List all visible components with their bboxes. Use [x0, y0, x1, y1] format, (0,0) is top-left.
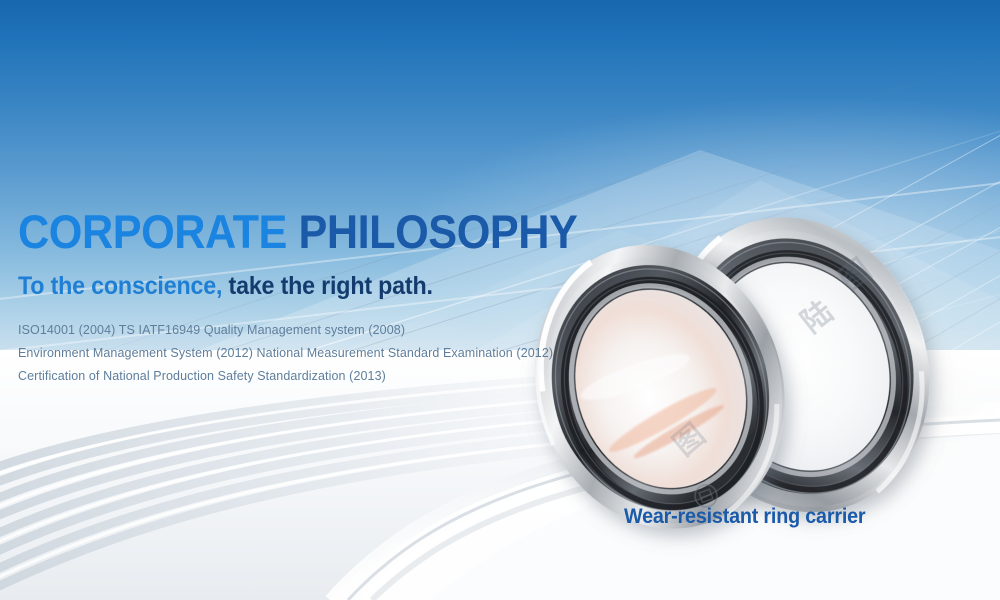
certification-line: Environment Management System (2012) Nat… — [18, 342, 638, 365]
subtitle-part-secondary: take the right path. — [229, 272, 433, 300]
certification-line: ISO14001 (2004) TS IATF16949 Quality Man… — [18, 319, 638, 342]
page-subtitle: To the conscience, take the right path. — [18, 273, 595, 301]
subtitle-part-primary: To the conscience, — [18, 272, 222, 300]
certifications-list: ISO14001 (2004) TS IATF16949 Quality Man… — [18, 319, 638, 388]
corporate-philosophy-banner: 图 陆 图 CORPORATE PHILOSOPHY To the consci… — [0, 0, 1000, 600]
product-caption: Wear-resistant ring carrier — [624, 505, 865, 529]
headline-copy-block: CORPORATE PHILOSOPHY To the conscience, … — [18, 208, 638, 388]
headline-word-corporate: CORPORATE — [18, 205, 287, 258]
headline-word-philosophy: PHILOSOPHY — [298, 205, 577, 258]
certification-line: Certification of National Production Saf… — [18, 365, 638, 388]
page-title: CORPORATE PHILOSOPHY — [18, 208, 588, 257]
